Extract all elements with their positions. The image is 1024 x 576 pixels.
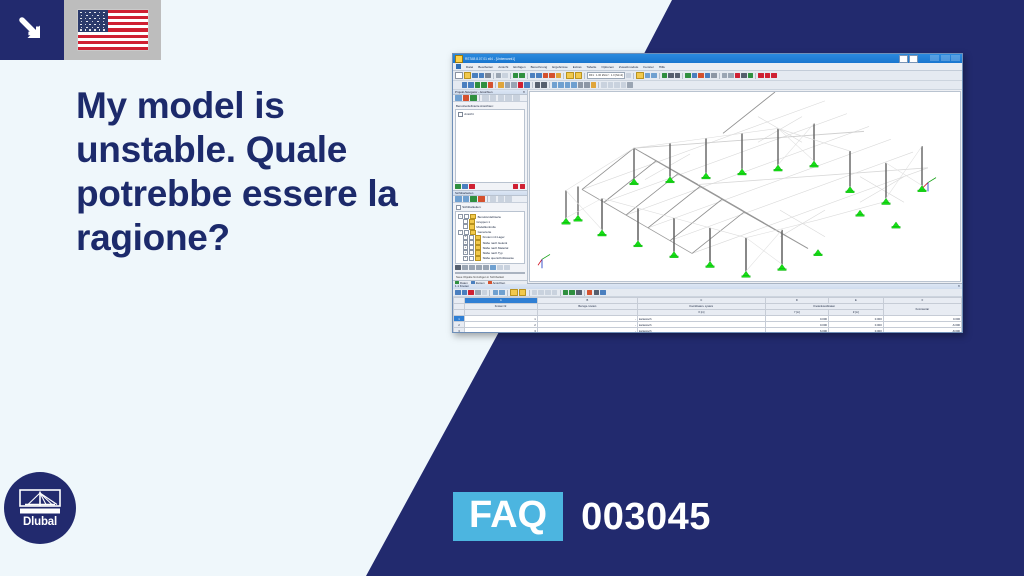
- layers-icon[interactable]: [601, 82, 607, 88]
- view-front-icon[interactable]: [552, 82, 558, 88]
- slide-canvas: My model is unstable. Quale potrebbe ess…: [0, 0, 1024, 576]
- node-table[interactable]: A B C D E F Knoten Nr. Bezugs- knoten Ko…: [453, 297, 962, 333]
- vis-btn-7[interactable]: [505, 196, 512, 202]
- toolbar-separator: [479, 95, 480, 101]
- table-select-icon[interactable]: [519, 289, 527, 297]
- dlubal-logo: Dlubal: [4, 472, 76, 544]
- visibility-icon[interactable]: [608, 82, 614, 88]
- toolbar-separator: [495, 82, 496, 88]
- project-navigator: Projekt-Navigator - Ansichten ✕ Benutzer…: [453, 90, 528, 283]
- nav-btn-7[interactable]: [505, 95, 512, 101]
- us-flag-icon: [78, 10, 148, 50]
- table-export-icon[interactable]: [587, 290, 593, 296]
- table-nav-next-icon[interactable]: [545, 290, 551, 296]
- table-row[interactable]: 3 3 - kartesisch 6.000 0.000 -8.000: [454, 328, 962, 333]
- toolbar-separator: [532, 82, 533, 88]
- tree-item-label: Knoten mit Lager: [483, 235, 505, 239]
- view-iso-icon[interactable]: [571, 82, 577, 88]
- toolbar-separator: [507, 290, 508, 296]
- tree-item-label: Gruppen 1: [476, 220, 490, 224]
- zoom-out-icon[interactable]: [536, 73, 542, 79]
- model-viewport[interactable]: [529, 91, 961, 282]
- zoom-all-icon[interactable]: [549, 73, 555, 79]
- menu-item-ergebnisse[interactable]: Ergebnisse: [552, 65, 567, 69]
- row-number: 3: [454, 328, 465, 333]
- toolbar-combo-field[interactable]: RF1 : 1.00 kN/m³ : 1.0 [N/m2]: [587, 72, 625, 79]
- menu-item-fenster[interactable]: Fenster: [643, 65, 654, 69]
- module-icon-1[interactable]: [758, 73, 764, 79]
- visibility-input-field[interactable]: [455, 272, 525, 274]
- visibility-checkbox-label: Sichtbarkeiten:: [462, 205, 481, 209]
- vis-action-2-icon[interactable]: [462, 265, 468, 271]
- vis-action-8-icon[interactable]: [504, 265, 510, 271]
- print-preview-icon[interactable]: [741, 73, 747, 79]
- mirror-icon[interactable]: [505, 82, 511, 88]
- header-kommentar: Kommentar: [883, 304, 961, 316]
- combo-dropdown-icon[interactable]: [626, 73, 632, 79]
- render-mode-icon[interactable]: [566, 72, 574, 80]
- open-file-icon[interactable]: [464, 72, 472, 80]
- node-icon[interactable]: [668, 73, 674, 79]
- loadcase-icon[interactable]: [636, 72, 644, 80]
- view-item-label: Ansicht: [464, 112, 473, 116]
- nav-btn-4[interactable]: [482, 95, 489, 101]
- table-toolbar[interactable]: [453, 289, 962, 298]
- secondary-toolbar[interactable]: [453, 81, 962, 90]
- maximize-button[interactable]: [941, 55, 950, 61]
- table-filter-icon[interactable]: [493, 290, 499, 296]
- table-panel-close-icon[interactable]: ✕: [958, 284, 960, 288]
- new-file-icon[interactable]: [455, 72, 463, 80]
- toolbar-separator: [584, 290, 585, 296]
- table-highlight-icon[interactable]: [510, 289, 518, 297]
- custom-views-pane[interactable]: Ansicht: [455, 109, 525, 183]
- vis-action-3-icon[interactable]: [469, 265, 475, 271]
- load-icon[interactable]: [698, 73, 704, 79]
- menu-bar[interactable]: Datei Bearbeiten Ansicht Einfügen Berech…: [453, 63, 962, 71]
- tree-item-label: Generierte: [478, 230, 492, 234]
- toolbar-separator: [584, 73, 585, 79]
- menu-item-einfuegen[interactable]: Einfügen: [513, 65, 525, 69]
- table-copy-icon[interactable]: [482, 290, 488, 296]
- table-cut-icon[interactable]: [475, 290, 481, 296]
- table-redo-icon[interactable]: [569, 290, 575, 296]
- rename-view-icon[interactable]: [513, 184, 519, 190]
- draw-arc-icon[interactable]: [468, 82, 474, 88]
- folder-icon: [475, 256, 481, 261]
- vis-action-5-icon[interactable]: [483, 265, 489, 271]
- toolbar-separator: [489, 290, 490, 296]
- undo-icon[interactable]: [513, 73, 519, 79]
- toolbar-separator: [633, 73, 634, 79]
- delete-view-icon[interactable]: [520, 184, 526, 190]
- page-title: My model is unstable. Quale potrebbe ess…: [76, 84, 406, 260]
- member-icon[interactable]: [675, 73, 681, 79]
- vis-btn-4[interactable]: [478, 196, 485, 202]
- toolbar-separator: [493, 73, 494, 79]
- visibility-button-row[interactable]: [453, 264, 527, 272]
- cell-y[interactable]: 0.000: [828, 328, 883, 333]
- close-button[interactable]: [951, 55, 960, 61]
- table-undo-icon[interactable]: [563, 290, 569, 296]
- window-controls[interactable]: [930, 55, 960, 61]
- wireframe-icon[interactable]: [575, 72, 583, 80]
- dimension-icon[interactable]: [535, 82, 541, 88]
- rstab-app-icon: [455, 55, 463, 63]
- menu-item-hilfe[interactable]: Hilfe: [659, 65, 665, 69]
- zoom-window-icon[interactable]: [543, 73, 549, 79]
- faq-number: 003045: [581, 497, 711, 537]
- check-icon[interactable]: [748, 73, 754, 79]
- grid-icon[interactable]: [728, 73, 734, 79]
- toolbar-separator: [682, 73, 683, 79]
- rotate-icon[interactable]: [498, 82, 504, 88]
- support-icon[interactable]: [685, 73, 691, 79]
- flag-plate: [64, 0, 161, 60]
- visibility-tree[interactable]: - Benutzerdefinierte Gruppen 1 Modellkon…: [455, 211, 525, 264]
- menu-item-ansicht[interactable]: Ansicht: [498, 65, 508, 69]
- vis-btn-3[interactable]: [470, 196, 477, 202]
- results-icon[interactable]: [645, 73, 651, 79]
- vis-btn-1[interactable]: [455, 196, 462, 202]
- menu-item-tabelle[interactable]: Tabelle: [587, 65, 597, 69]
- cell-z[interactable]: -8.000: [883, 328, 961, 333]
- work-area: Projekt-Navigator - Ansichten ✕ Benutzer…: [453, 90, 962, 283]
- module-icon-3[interactable]: [771, 73, 777, 79]
- cell-x[interactable]: 6.000: [765, 328, 828, 333]
- table-nav-last-icon[interactable]: [552, 290, 558, 296]
- table-delete-row-icon[interactable]: [468, 290, 474, 296]
- copy-icon[interactable]: [502, 73, 508, 79]
- table-insert-row-icon[interactable]: [462, 290, 468, 296]
- navigator-title: Projekt-Navigator - Ansichten: [455, 90, 492, 94]
- cut-icon[interactable]: [496, 73, 502, 79]
- toolbar-separator: [527, 73, 528, 79]
- rstab-application-window: RSTAB 8.07.01 x64 - [Unbenannt1] Datei B…: [452, 53, 963, 333]
- tree-item-label: Benutzerdefinierte: [478, 215, 501, 219]
- window-titlebar: RSTAB 8.07.01 x64 - [Unbenannt1]: [453, 54, 962, 63]
- view-item-icon: [458, 112, 463, 118]
- vis-action-4-icon[interactable]: [476, 265, 482, 271]
- toolbar-separator: [510, 73, 511, 79]
- draw-polyline-icon[interactable]: [475, 82, 481, 88]
- vis-action-7-icon[interactable]: [497, 265, 503, 271]
- select-arrow-icon[interactable]: [455, 82, 461, 88]
- nav-btn-5[interactable]: [490, 95, 497, 101]
- view-perspective-icon[interactable]: [578, 82, 584, 88]
- nav-views-icon[interactable]: [455, 95, 462, 101]
- draw-circle-icon[interactable]: [481, 82, 487, 88]
- table-panel: 1.1 Knoten ✕: [453, 283, 962, 333]
- tree-item-label: Stäbe nach Typ: [483, 251, 503, 255]
- menu-app-icon: [456, 64, 461, 69]
- toolbar-separator: [598, 82, 599, 88]
- dlubal-truss-icon: [19, 489, 61, 515]
- nav-btn-6[interactable]: [498, 95, 505, 101]
- minimize-button[interactable]: [930, 55, 939, 61]
- vis-action-1-icon[interactable]: [455, 265, 461, 271]
- view-side-icon[interactable]: [565, 82, 571, 88]
- toolbar-separator: [529, 290, 530, 296]
- toolbar-separator: [755, 73, 756, 79]
- tree-item-label: Stäbe querschnittsweise: [483, 256, 514, 260]
- visibility-checkbox[interactable]: [456, 205, 461, 210]
- tree-checkbox[interactable]: [469, 256, 474, 261]
- redo-icon[interactable]: [519, 73, 525, 79]
- table-sort-icon[interactable]: [499, 290, 505, 296]
- menu-item-extras[interactable]: Extras: [573, 65, 582, 69]
- move-icon[interactable]: [511, 82, 517, 88]
- tree-item-label: Stäbe nach Material: [483, 246, 509, 250]
- clip-icon[interactable]: [591, 82, 597, 88]
- toolbar-separator: [659, 73, 660, 79]
- arrow-down-right-icon: [0, 0, 64, 60]
- zoom-in-icon[interactable]: [530, 73, 536, 79]
- cell-knoten-nr[interactable]: 3: [465, 328, 538, 333]
- green-support-icon: [562, 161, 926, 277]
- draw-spline-icon[interactable]: [488, 82, 494, 88]
- menu-item-zusatzmodule[interactable]: Zusatzmodule: [619, 65, 638, 69]
- menu-item-bearbeiten[interactable]: Bearbeiten: [478, 65, 493, 69]
- custom-views-buttons[interactable]: [453, 183, 527, 191]
- deformation-icon[interactable]: [651, 73, 657, 79]
- delete-icon[interactable]: [735, 73, 741, 79]
- save-icon[interactable]: [472, 73, 478, 79]
- tree-expander-icon[interactable]: +: [463, 256, 468, 261]
- text-icon[interactable]: [541, 82, 547, 88]
- nav-btn-8[interactable]: [513, 95, 520, 101]
- coordinate-axes-icon: [538, 178, 936, 269]
- filter-icon[interactable]: [614, 82, 620, 88]
- view-top-icon[interactable]: [558, 82, 564, 88]
- vis-action-6-icon[interactable]: [490, 265, 496, 271]
- vis-btn-5[interactable]: [490, 196, 497, 202]
- table-help-icon[interactable]: [600, 290, 606, 296]
- table-nav-first-icon[interactable]: [532, 290, 538, 296]
- structural-model-3d: [530, 92, 960, 281]
- faq-badge: FAQ 003045: [453, 492, 711, 541]
- copy-view-icon[interactable]: [469, 184, 475, 190]
- vis-btn-6[interactable]: [498, 196, 505, 202]
- toolbar-separator: [549, 82, 550, 88]
- tree-item-label: Modellkontrolle: [476, 225, 495, 229]
- scale-icon[interactable]: [518, 82, 524, 88]
- save-as-icon[interactable]: [479, 73, 485, 79]
- cell-koordinatensystem[interactable]: kartesisch: [637, 328, 765, 333]
- document-window-controls[interactable]: [899, 55, 918, 63]
- table-panel-title: 1.1 Knoten: [455, 284, 469, 288]
- solid-icon[interactable]: [711, 73, 717, 79]
- table-nav-prev-icon[interactable]: [538, 290, 544, 296]
- snap-icon[interactable]: [722, 73, 728, 79]
- nav-list-icon[interactable]: [470, 95, 477, 101]
- tree-item-label: Stäbe nach Gelenk: [483, 241, 508, 245]
- visibility-section-title: Sichtbarkeiten: [455, 191, 473, 195]
- menu-item-optionen[interactable]: Optionen: [601, 65, 614, 69]
- nav-tree-icon[interactable]: [463, 95, 470, 101]
- toolbar-separator: [563, 73, 564, 79]
- array-icon[interactable]: [524, 82, 530, 88]
- toolbar-separator: [560, 290, 561, 296]
- table-new-row-icon[interactable]: [455, 290, 461, 296]
- visibility-checkbox-row[interactable]: Sichtbarkeiten:: [453, 203, 527, 211]
- calculate-icon[interactable]: [662, 73, 668, 79]
- settings-gear-icon[interactable]: [627, 82, 633, 88]
- window-title: RSTAB 8.07.01 x64 - [Unbenannt1]: [465, 57, 515, 61]
- edit-view-icon[interactable]: [462, 184, 468, 190]
- navigator-close-icon[interactable]: ✕: [523, 90, 525, 94]
- toolbar-separator: [719, 73, 720, 79]
- view-list-item[interactable]: Ansicht: [458, 112, 522, 118]
- vis-btn-2[interactable]: [463, 196, 470, 202]
- table-settings-icon[interactable]: [576, 290, 582, 296]
- toolbar-separator: [487, 196, 488, 202]
- dlubal-logo-text: Dlubal: [23, 516, 57, 528]
- add-view-icon[interactable]: [455, 184, 461, 190]
- print-icon[interactable]: [485, 73, 491, 79]
- navigator-toolbar[interactable]: [453, 95, 527, 102]
- group-icon[interactable]: [621, 82, 627, 88]
- draw-line-icon[interactable]: [462, 82, 468, 88]
- pan-icon[interactable]: [556, 73, 562, 79]
- table-print-icon[interactable]: [594, 290, 600, 296]
- menu-item-berechnung[interactable]: Berechnung: [531, 65, 548, 69]
- tree-item-staebe-querschnittsweise[interactable]: + Stäbe querschnittsweise: [458, 256, 522, 261]
- hinge-icon[interactable]: [692, 73, 698, 79]
- faq-chip-label: FAQ: [453, 492, 563, 541]
- section-icon[interactable]: [584, 82, 590, 88]
- surface-icon[interactable]: [705, 73, 711, 79]
- cell-bezugsknoten[interactable]: -: [537, 328, 637, 333]
- menu-item-datei[interactable]: Datei: [466, 65, 473, 69]
- main-toolbar[interactable]: RF1 : 1.00 kN/m³ : 1.0 [N/m2]: [453, 71, 962, 81]
- module-icon-2[interactable]: [765, 73, 771, 79]
- visibility-toolbar[interactable]: [453, 196, 527, 203]
